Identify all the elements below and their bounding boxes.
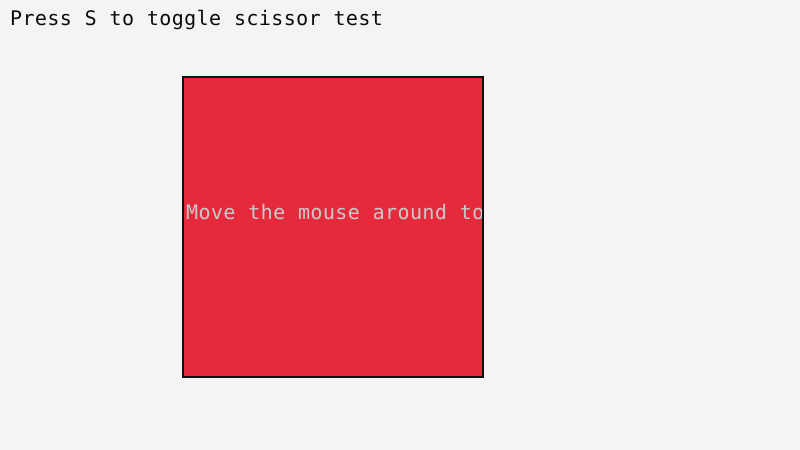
scissor-fill bbox=[184, 78, 482, 376]
scissor-clipped-text: Move the mouse around to reveal the text bbox=[186, 200, 484, 224]
instruction-bar: Press S to toggle scissor test bbox=[0, 0, 800, 40]
app-window: Press S to toggle scissor test Move the … bbox=[0, 0, 800, 450]
instruction-text: Press S to toggle scissor test bbox=[10, 6, 383, 30]
scissor-area-rectangle[interactable]: Move the mouse around to reveal the text bbox=[182, 76, 484, 378]
